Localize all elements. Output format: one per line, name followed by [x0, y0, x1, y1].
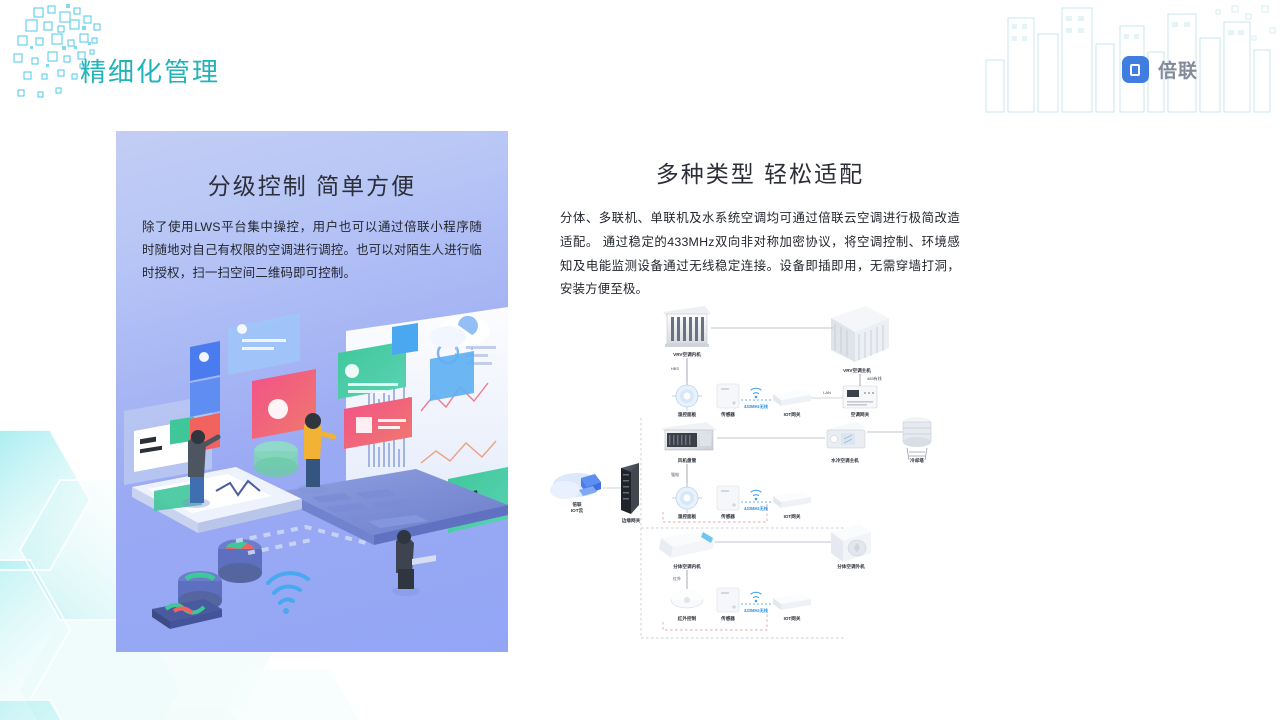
isometric-dashboard-illustration: 总节能量 7437	[116, 291, 508, 652]
fcu-indoor-label: 风机盘管	[678, 457, 697, 464]
iot-cloud	[550, 473, 601, 499]
split-panel-label: 红外控制	[678, 615, 697, 622]
vrv-ac-gateway-label: 空调网关	[851, 411, 870, 418]
fcu-sensor-icon	[717, 486, 739, 510]
wifi-icon	[268, 573, 308, 614]
right-column-body: 分体、多联机、单联机及水系统空调均可通过倍联云空调进行极简改造适配。 通过稳定的…	[560, 207, 960, 302]
vrv-wireless-icon	[751, 388, 761, 398]
vrv-iot-gateway-label: IOT网关	[784, 411, 801, 418]
vrv-ac-gateway-icon	[843, 386, 877, 408]
edge-gateway-device	[621, 463, 639, 514]
green-disc	[254, 441, 298, 477]
fcu-sensor-label: 传感器	[720, 513, 735, 520]
vrv-lan-label: LAN	[823, 390, 831, 395]
left-card-body: 除了使用LWS平台集中操控，用户也可以通过倍联小程序随时随地对自己有权限的空调进…	[142, 216, 482, 285]
split-sensor-label: 传感器	[720, 615, 735, 622]
split-ir-controller-icon	[671, 589, 703, 608]
vrv-outdoor-unit-icon	[831, 306, 889, 362]
vrv-thermostat-icon	[672, 381, 702, 411]
tag-card-person	[190, 341, 220, 381]
vrv-iot-gateway-icon	[773, 390, 811, 406]
left-card-heading: 分级控制 简单方便	[116, 167, 508, 201]
tag-card-node	[430, 351, 474, 401]
person-right-seated	[392, 530, 436, 596]
vrv-outdoor-label: VRV空调主机	[843, 367, 871, 374]
split-outdoor-unit-icon	[831, 524, 871, 562]
vrv-panel-label: 温控面板	[678, 411, 697, 418]
vrv-sensor-label: 传感器	[720, 411, 735, 418]
cooling-tower-icon	[903, 417, 931, 460]
tag-card-blue-small	[392, 323, 418, 355]
page-title: 精细化管理	[80, 52, 220, 89]
fcu-panel-label: 温控面板	[678, 513, 697, 520]
split-outdoor-label: 分体空调外机	[837, 563, 865, 570]
split-indoor-unit-icon	[659, 530, 715, 558]
cloud-label-line1: 倍联	[571, 501, 582, 508]
row-fcu: 风机盘管 水冷空调主机 冷却塔 强电	[661, 417, 931, 520]
fcu-wireless-label: 433MHz无线	[744, 505, 769, 512]
edge-gateway-label: 边缘网关	[621, 517, 641, 524]
vrv-indoor-label: VRV空调内机	[673, 351, 701, 358]
fcu-indoor-unit-icon	[661, 422, 717, 450]
row-split: 分体空调内机 分体空调外机 红外 红外控制 传感器	[659, 524, 871, 622]
water-chiller-icon	[825, 422, 867, 448]
split-wireless-label: 433MHz无线	[744, 607, 769, 614]
diagram-dashed-frame	[641, 418, 845, 638]
tag-card-light-blue	[228, 313, 300, 375]
fcu-wire-label: 强电	[671, 471, 679, 477]
fcu-extra-label: 冷却塔	[910, 457, 924, 464]
tag-card-users	[190, 377, 220, 417]
brand-logo: 倍联	[1122, 56, 1198, 83]
square-logo-icon	[1122, 56, 1149, 83]
split-wire-label: 红外	[673, 575, 681, 581]
left-feature-card: 分级控制 简单方便 除了使用LWS平台集中操控，用户也可以通过倍联小程序随时随地…	[116, 131, 508, 652]
fcu-outdoor-label: 水冷空调主机	[831, 457, 859, 464]
row-vrv: VRV空调内机 VRV空调主机 HBS 温控面板	[663, 306, 889, 418]
right-column-heading: 多种类型 轻松适配	[560, 155, 960, 189]
fcu-thermostat-icon	[672, 483, 702, 513]
split-indoor-label: 分体空调内机	[673, 563, 701, 570]
chart-cylinders	[152, 539, 262, 629]
fcu-wireless-icon	[751, 490, 761, 500]
hvac-topology-diagram: 倍联 IOT云 边缘网关 VRV空调内机	[545, 300, 965, 650]
vrv-indoor-unit-icon	[663, 306, 711, 347]
cloud-label-line2: IOT云	[571, 507, 584, 514]
vrv-sensor-icon	[717, 384, 739, 408]
split-wireless-icon	[751, 592, 761, 602]
split-iot-gateway-label: IOT网关	[784, 615, 801, 622]
split-iot-gateway-icon	[773, 594, 811, 610]
vrv-wire-label: HBS	[671, 366, 680, 371]
fcu-iot-gateway-label: IOT网关	[784, 513, 801, 520]
split-sensor-icon	[717, 588, 739, 612]
page-header: 精细化管理 倍联	[0, 0, 1280, 118]
fcu-iot-gateway-icon	[773, 492, 811, 508]
right-feature-column: 多种类型 轻松适配 分体、多联机、单联机及水系统空调均可通过倍联云空调进行极简改…	[560, 155, 960, 302]
brand-name: 倍联	[1158, 56, 1198, 83]
vrv-wireless-label: 433MHz无线	[744, 403, 769, 410]
vrv-bus-label: 485有线	[867, 375, 882, 381]
